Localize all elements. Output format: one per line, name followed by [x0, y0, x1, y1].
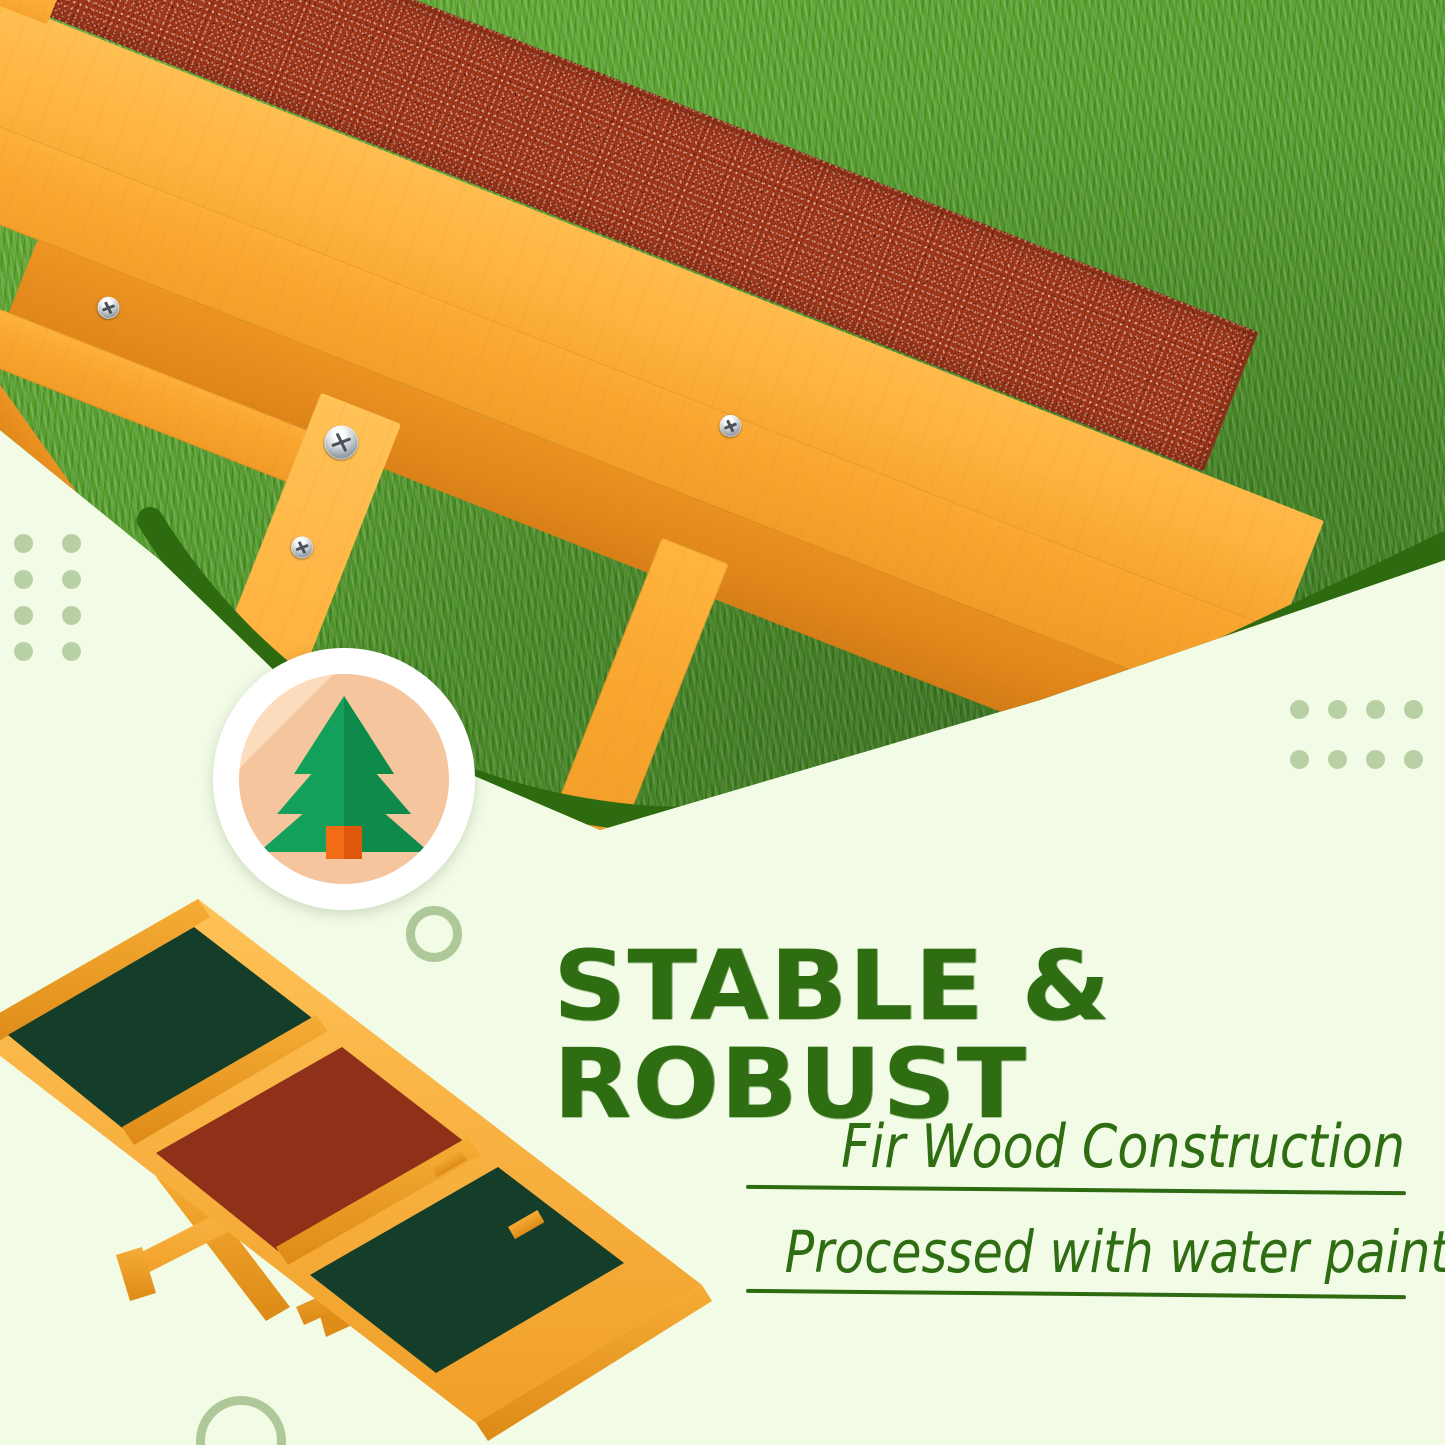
feature-underline-2: [746, 1289, 1406, 1299]
feature-underline-1: [746, 1185, 1406, 1195]
feature-line-1: Fir Wood Construction: [785, 1112, 1405, 1182]
leg-post-secondary: [530, 538, 729, 880]
feature-line-2: Processed with water paint: [785, 1218, 1405, 1286]
page-headline: STABLE & ROBUST: [553, 938, 1443, 1134]
infographic-canvas: STABLE & ROBUST Fir Wood Construction Pr…: [0, 0, 1445, 1445]
badge-disc: [239, 674, 449, 884]
